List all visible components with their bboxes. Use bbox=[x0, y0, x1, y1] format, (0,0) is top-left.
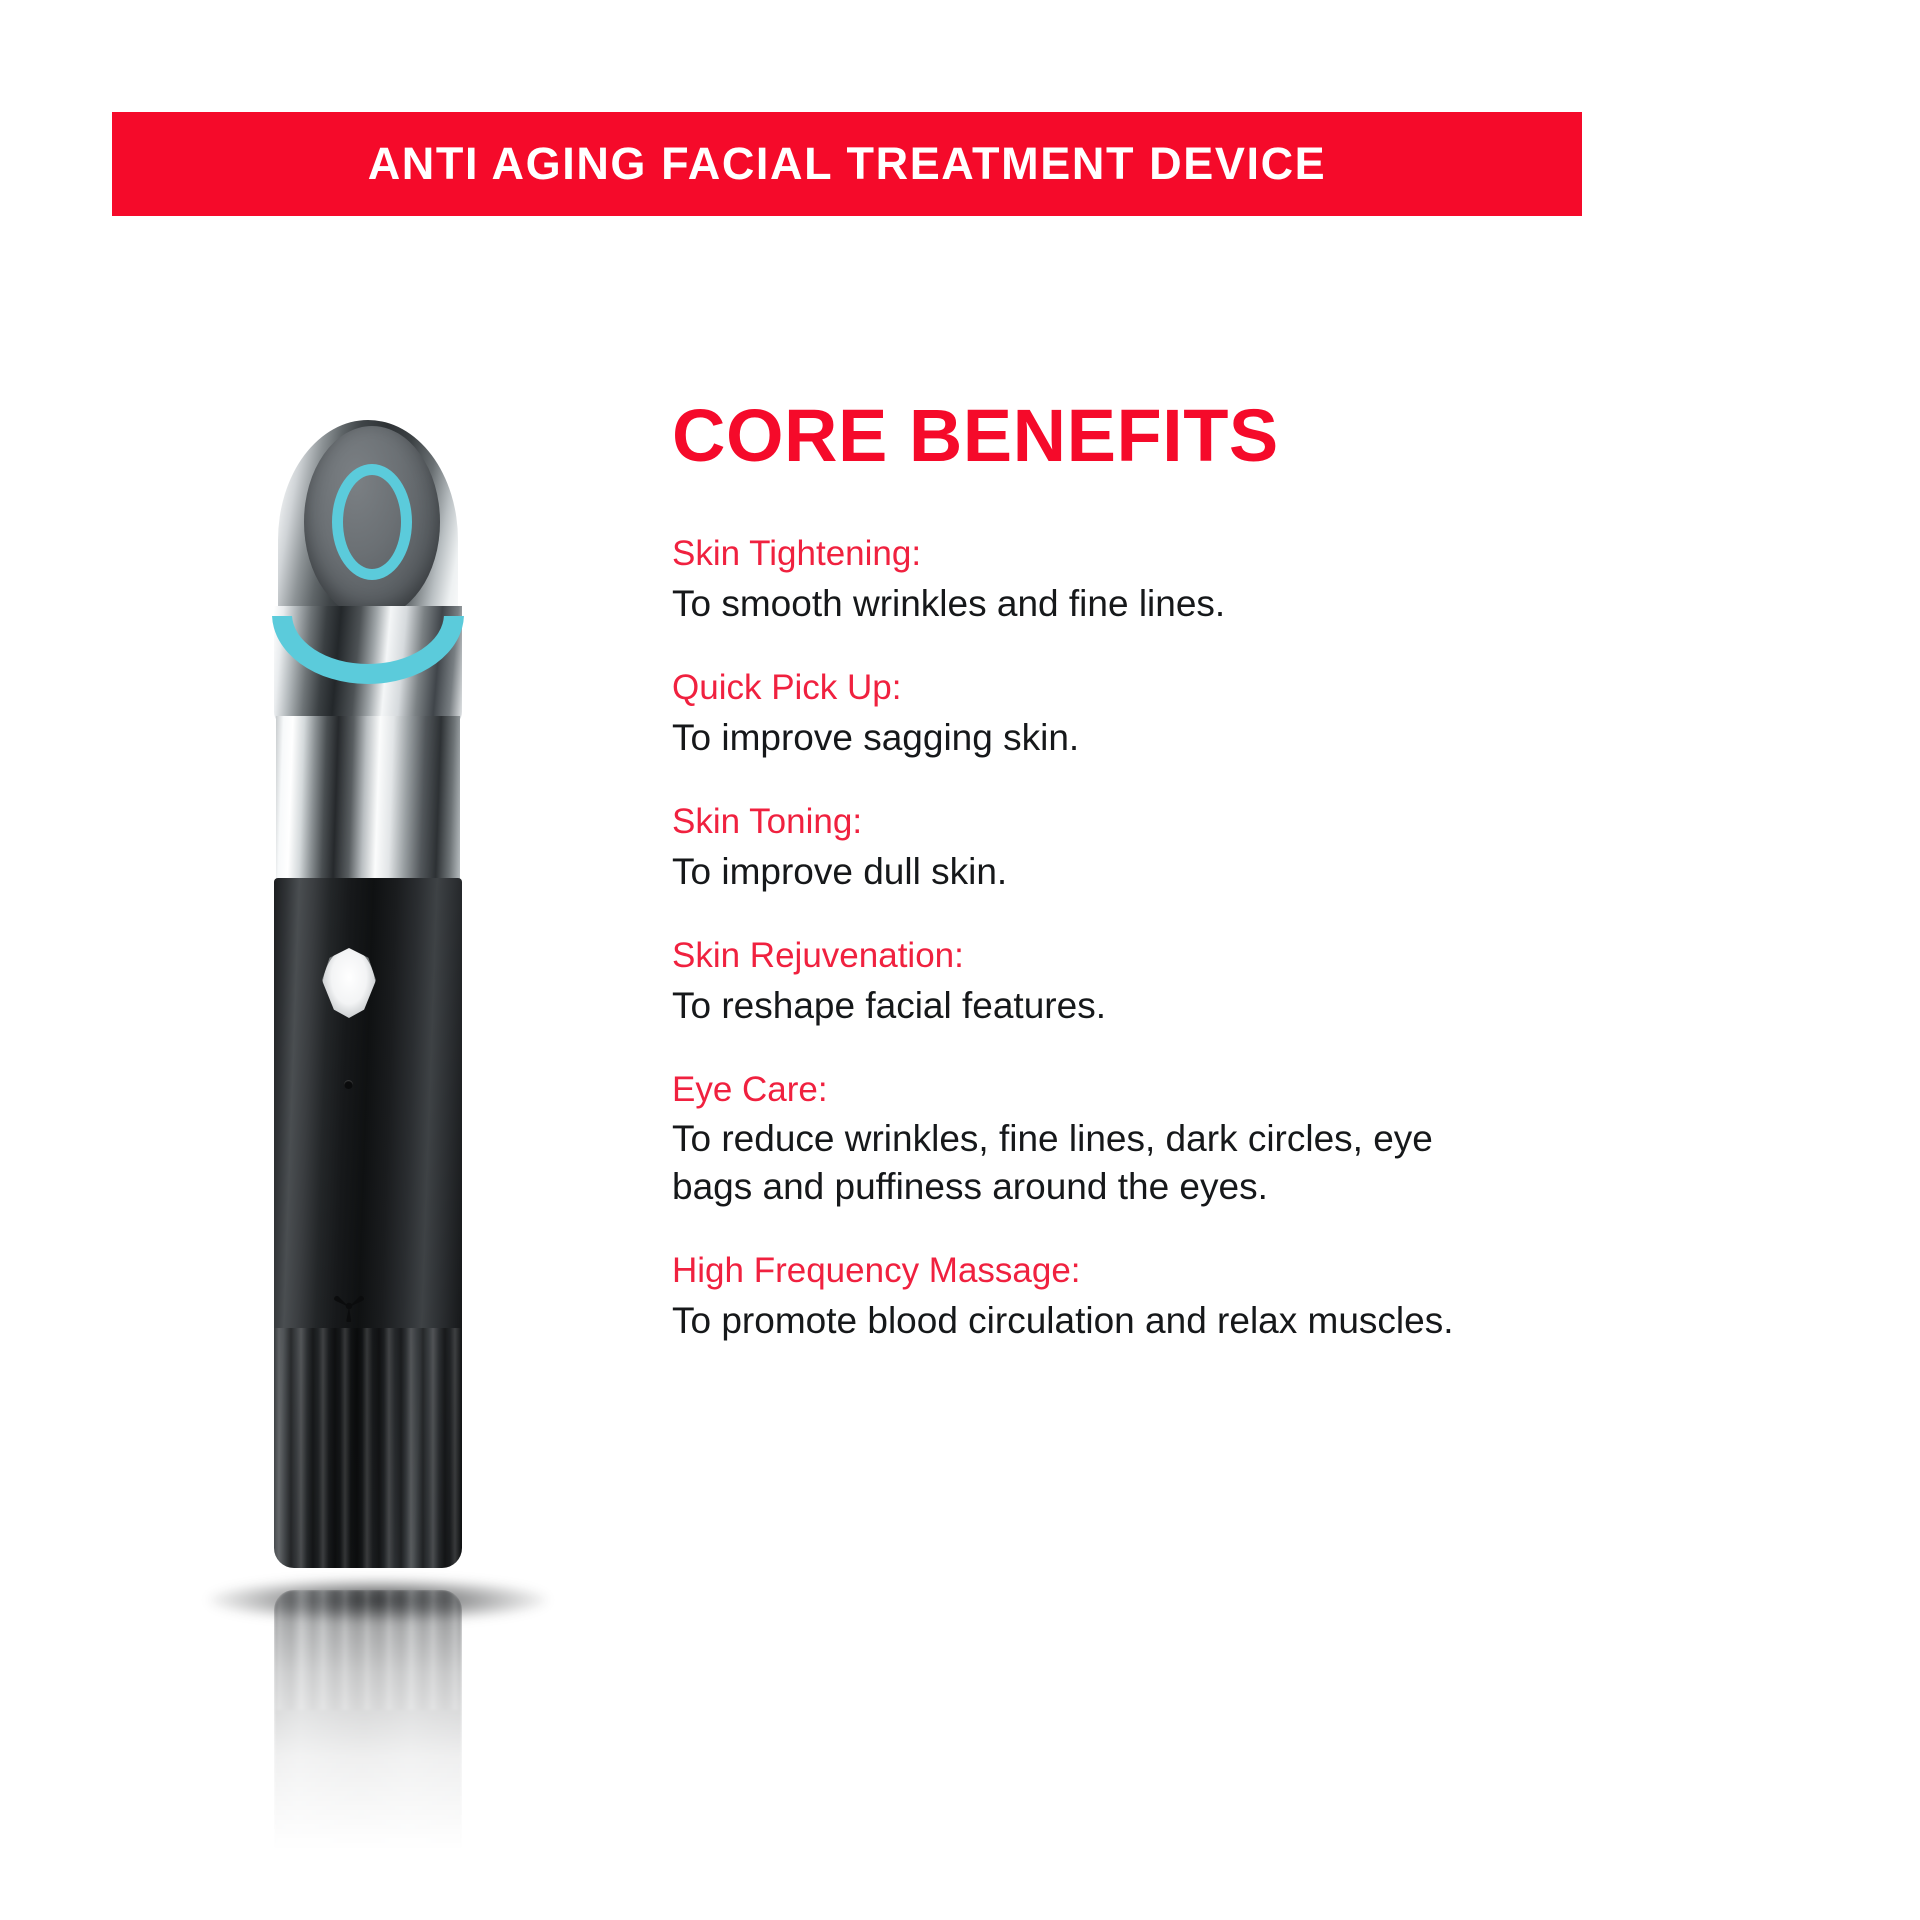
page-title: ANTI AGING FACIAL TREATMENT DEVICE bbox=[368, 138, 1327, 190]
benefit-item-skin-rejuvenation: Skin Rejuvenation: To reshape facial fea… bbox=[672, 933, 1492, 1029]
benefit-description: To promote blood circulation and relax m… bbox=[672, 1297, 1492, 1344]
device-head-ring-icon bbox=[332, 464, 412, 580]
benefit-title: Skin Rejuvenation: bbox=[672, 933, 1492, 979]
device-mirror-reflection bbox=[274, 1590, 462, 1850]
benefit-item-skin-toning: Skin Toning: To improve dull skin. bbox=[672, 799, 1492, 895]
device-fluted-base bbox=[274, 1328, 462, 1568]
device-brand-mark-icon bbox=[332, 1292, 366, 1322]
device-teal-accent-band bbox=[270, 616, 466, 716]
benefit-title: Skin Toning: bbox=[672, 799, 1492, 845]
device-led-indicator-icon bbox=[344, 1080, 353, 1089]
benefit-title: Skin Tightening: bbox=[672, 531, 1492, 577]
benefit-description: To smooth wrinkles and fine lines. bbox=[672, 580, 1492, 627]
device-chrome-barrel bbox=[276, 716, 460, 886]
benefit-item-skin-tightening: Skin Tightening: To smooth wrinkles and … bbox=[672, 531, 1492, 627]
device-reflection-flutes bbox=[274, 1590, 462, 1710]
benefit-description: To improve dull skin. bbox=[672, 848, 1492, 895]
benefit-title: High Frequency Massage: bbox=[672, 1248, 1492, 1294]
benefit-item-high-frequency-massage: High Frequency Massage: To promote blood… bbox=[672, 1248, 1492, 1344]
benefit-title: Eye Care: bbox=[672, 1067, 1492, 1113]
benefit-description: To reduce wrinkles, fine lines, dark cir… bbox=[672, 1115, 1492, 1210]
benefit-item-eye-care: Eye Care: To reduce wrinkles, fine lines… bbox=[672, 1067, 1492, 1210]
core-benefits-heading: CORE BENEFITS bbox=[672, 398, 1492, 473]
product-image bbox=[200, 400, 560, 1720]
header-banner: ANTI AGING FACIAL TREATMENT DEVICE bbox=[112, 112, 1582, 216]
benefit-item-quick-pick-up: Quick Pick Up: To improve sagging skin. bbox=[672, 665, 1492, 761]
core-benefits-section: CORE BENEFITS Skin Tightening: To smooth… bbox=[672, 398, 1492, 1344]
benefit-description: To reshape facial features. bbox=[672, 982, 1492, 1029]
benefit-title: Quick Pick Up: bbox=[672, 665, 1492, 711]
benefit-description: To improve sagging skin. bbox=[672, 714, 1492, 761]
device-illustration bbox=[250, 420, 485, 1700]
